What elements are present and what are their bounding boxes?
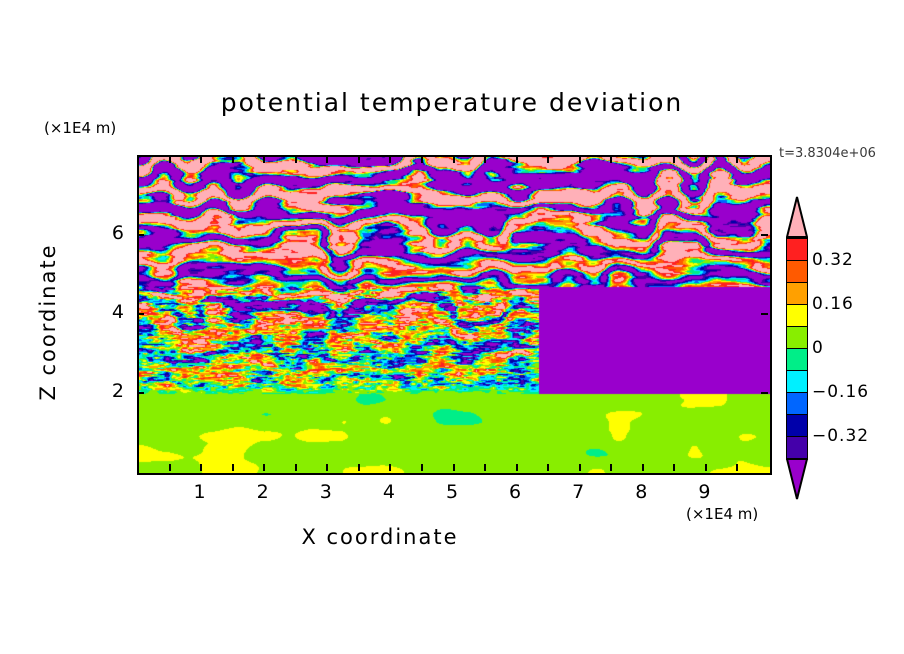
colorbar-band (786, 326, 808, 350)
x-minor-tick (263, 464, 265, 471)
x-tick-label: 9 (685, 481, 725, 503)
colorbar-over-cap (786, 196, 808, 238)
figure-canvas: potential temperature deviation (×1E4 m)… (0, 0, 904, 654)
x-minor-tick-top (421, 156, 423, 163)
y-major-tick (137, 234, 144, 236)
x-minor-tick (232, 464, 234, 471)
x-minor-tick-top (705, 156, 707, 163)
timestamp-annotation: t=3.8304e+06 (779, 146, 876, 161)
y-tick-label: 2 (85, 380, 125, 402)
y-major-tick-right (761, 234, 768, 236)
x-axis-unit-label: (×1E4 m) (686, 505, 758, 523)
x-minor-tick (200, 464, 202, 471)
x-minor-tick-top (169, 156, 171, 163)
x-minor-tick (673, 464, 675, 471)
x-minor-tick (736, 464, 738, 471)
x-minor-tick-top (295, 156, 297, 163)
x-tick-label: 8 (622, 481, 662, 503)
x-tick-label: 1 (180, 481, 220, 503)
x-minor-tick (421, 464, 423, 471)
x-tick-label: 2 (243, 481, 283, 503)
colorbar-tick-label: 0 (812, 338, 824, 358)
y-axis-title: Z coordinate (36, 212, 60, 432)
colorbar-band (786, 304, 808, 328)
x-tick-label: 6 (496, 481, 536, 503)
x-minor-tick-top (736, 156, 738, 163)
x-minor-tick-top (547, 156, 549, 163)
x-minor-tick (453, 464, 455, 471)
colorbar-band (786, 260, 808, 284)
x-minor-tick (705, 464, 707, 471)
colorbar-band (786, 414, 808, 438)
colorbar-under-cap (786, 458, 808, 500)
x-axis-title: X coordinate (0, 525, 760, 549)
x-minor-tick (484, 464, 486, 471)
x-minor-tick (516, 464, 518, 471)
x-minor-tick-top (453, 156, 455, 163)
x-tick-label: 3 (306, 481, 346, 503)
colorbar-tick-label: 0.16 (812, 294, 854, 314)
x-minor-tick (389, 464, 391, 471)
colorbar-band (786, 392, 808, 416)
colorbar-band (786, 370, 808, 394)
x-minor-tick-top (484, 156, 486, 163)
x-minor-tick-top (232, 156, 234, 163)
colorbar-band (786, 436, 808, 460)
y-major-tick-right (761, 313, 768, 315)
y-major-tick (137, 313, 144, 315)
x-minor-tick-top (326, 156, 328, 163)
x-minor-tick-top (200, 156, 202, 163)
x-minor-tick (326, 464, 328, 471)
x-minor-tick (642, 464, 644, 471)
x-tick-label: 4 (369, 481, 409, 503)
x-minor-tick (579, 464, 581, 471)
colorbar-tick-label: 0.32 (812, 250, 854, 270)
x-minor-tick (610, 464, 612, 471)
x-minor-tick-top (516, 156, 518, 163)
colorbar-tick-label: −0.16 (812, 382, 869, 402)
y-major-tick-right (761, 392, 768, 394)
colorbar-band (786, 348, 808, 372)
y-tick-label: 4 (85, 301, 125, 323)
colorbar[interactable] (786, 196, 808, 500)
x-minor-tick-top (610, 156, 612, 163)
x-minor-tick (358, 464, 360, 471)
x-minor-tick-top (673, 156, 675, 163)
y-major-tick (137, 392, 144, 394)
x-minor-tick-top (642, 156, 644, 163)
y-axis-unit-label: (×1E4 m) (44, 119, 116, 137)
page-title: potential temperature deviation (0, 88, 904, 117)
x-minor-tick-top (389, 156, 391, 163)
x-minor-tick-top (358, 156, 360, 163)
colorbar-band (786, 282, 808, 306)
x-tick-label: 5 (433, 481, 473, 503)
y-tick-label: 6 (85, 222, 125, 244)
x-minor-tick-top (579, 156, 581, 163)
x-minor-tick (295, 464, 297, 471)
contour-plot-area (137, 155, 772, 475)
x-minor-tick-top (263, 156, 265, 163)
colorbar-band (786, 238, 808, 262)
colorbar-tick-label: −0.32 (812, 426, 869, 446)
contour-field (139, 157, 770, 473)
x-minor-tick (169, 464, 171, 471)
x-minor-tick (547, 464, 549, 471)
x-tick-label: 7 (559, 481, 599, 503)
